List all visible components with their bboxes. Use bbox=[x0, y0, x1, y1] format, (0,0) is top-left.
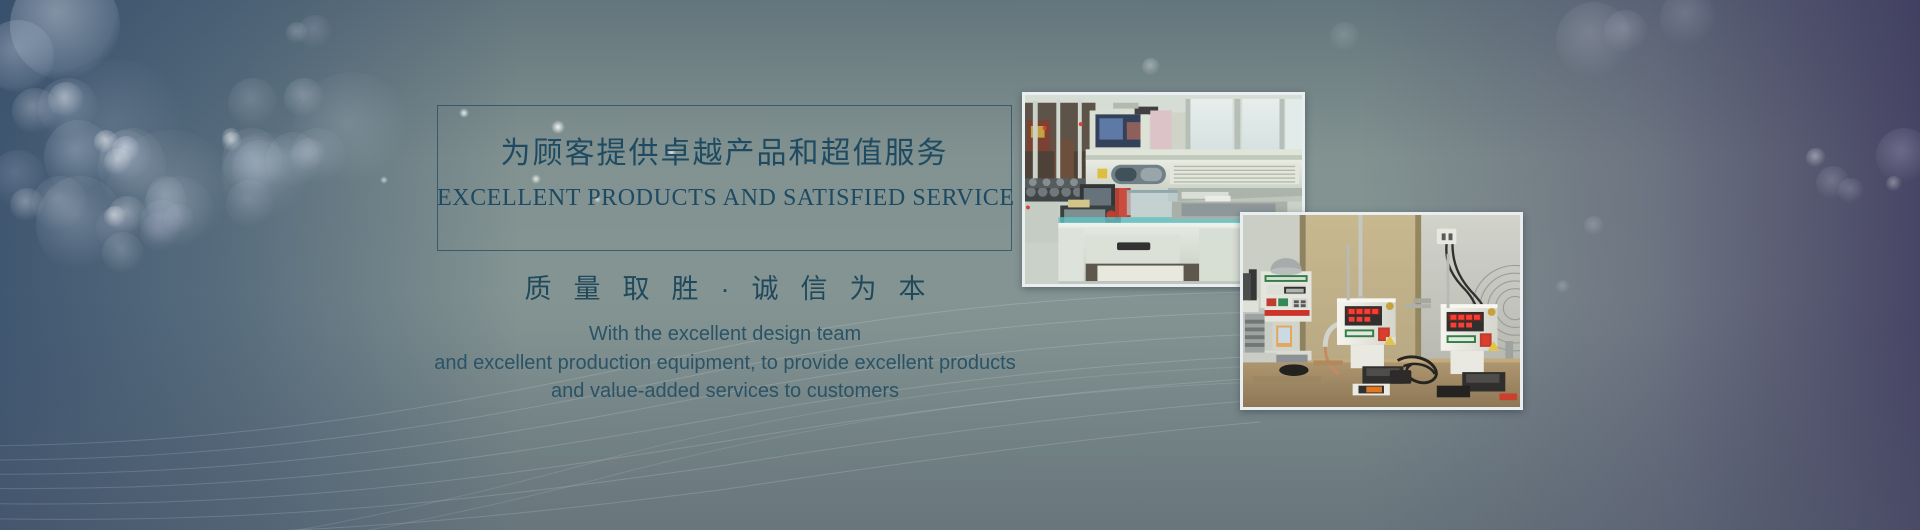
background-texture-noise bbox=[0, 0, 1920, 530]
page-title: 为顾客提供卓越产品和超值服务 bbox=[437, 128, 1012, 172]
description-line-2: and excellent production equipment, to p… bbox=[330, 349, 1120, 378]
description-line-3: and value-added services to customers bbox=[330, 377, 1120, 406]
description-paragraph: With the excellent design team and excel… bbox=[330, 320, 1120, 406]
company-slogan: 质量取胜·诚信为本 bbox=[400, 267, 1050, 306]
company-slogan-banner: 为顾客提供卓越产品和超值服务 EXCELLENT PRODUCTS AND SA… bbox=[0, 0, 1920, 530]
description-line-1: With the excellent design team bbox=[330, 320, 1120, 349]
crimping-machines-photo bbox=[1240, 212, 1523, 410]
page-subtitle: EXCELLENT PRODUCTS AND SATISFIED SERVICE bbox=[437, 185, 1012, 212]
headline-frame bbox=[437, 105, 1012, 251]
